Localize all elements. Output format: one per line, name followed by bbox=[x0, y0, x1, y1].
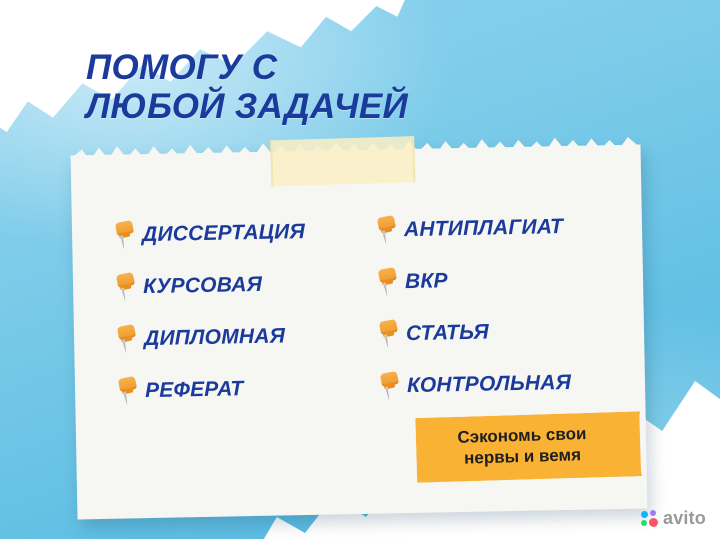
pushpin-icon bbox=[116, 324, 139, 354]
service-label: КУРСОВАЯ bbox=[143, 273, 263, 299]
promo-ribbon: Сэкономь свои нервы и вемя bbox=[415, 411, 641, 482]
service-label: ВКР bbox=[405, 269, 448, 294]
avito-watermark: avito bbox=[641, 508, 706, 529]
pushpin-icon bbox=[376, 215, 399, 245]
list-item: ВКР bbox=[377, 263, 616, 298]
pushpin-icon bbox=[379, 371, 402, 401]
list-item: ДИПЛОМНАЯ bbox=[116, 320, 379, 355]
service-label: СТАТЬЯ bbox=[406, 321, 489, 347]
services-list: ДИССЕРТАЦИЯ АНТИПЛАГИАТ КУРСОВАЯ ВКР ДИП… bbox=[114, 211, 617, 407]
service-label: РЕФЕРАТ bbox=[145, 377, 244, 403]
list-item: КОНТРОЛЬНАЯ bbox=[379, 367, 618, 402]
service-label: КОНТРОЛЬНАЯ bbox=[407, 371, 572, 398]
avito-wordmark: avito bbox=[663, 508, 706, 529]
list-item: КУРСОВАЯ bbox=[115, 268, 378, 303]
ribbon-text: Сэкономь свои нервы и вемя bbox=[415, 411, 641, 482]
page-title: ПОМОГУ С ЛЮБОЙ ЗАДАЧЕЙ bbox=[86, 48, 408, 126]
pushpin-icon bbox=[117, 376, 140, 406]
pushpin-icon bbox=[115, 272, 138, 302]
masking-tape bbox=[270, 136, 415, 186]
service-label: АНТИПЛАГИАТ bbox=[404, 215, 563, 242]
pushpin-icon bbox=[114, 220, 137, 250]
list-item: СТАТЬЯ bbox=[378, 315, 617, 350]
list-item: РЕФЕРАТ bbox=[117, 372, 380, 407]
service-label: ДИССЕРТАЦИЯ bbox=[142, 220, 305, 247]
list-item: АНТИПЛАГИАТ bbox=[376, 211, 615, 246]
notepad-sheet: ДИССЕРТАЦИЯ АНТИПЛАГИАТ КУРСОВАЯ ВКР ДИП… bbox=[71, 145, 648, 520]
poster-canvas: ПОМОГУ С ЛЮБОЙ ЗАДАЧЕЙ ДИССЕРТАЦИЯ АНТИП… bbox=[0, 0, 720, 539]
list-item: ДИССЕРТАЦИЯ bbox=[114, 216, 377, 251]
service-label: ДИПЛОМНАЯ bbox=[144, 324, 286, 351]
avito-logo-icon bbox=[641, 510, 659, 528]
pushpin-icon bbox=[378, 319, 401, 349]
pushpin-icon bbox=[377, 267, 400, 297]
